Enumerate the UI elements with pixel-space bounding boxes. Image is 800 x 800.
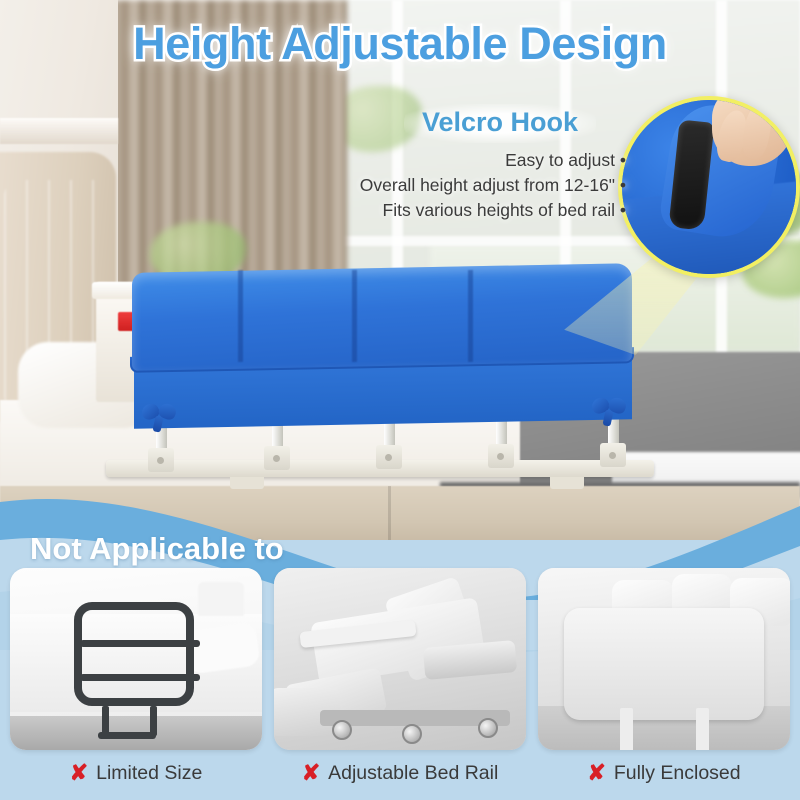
feature-bullet: Overall height adjust from 12-16" • <box>206 173 626 198</box>
lamp <box>198 582 244 616</box>
caster-wheel <box>402 724 422 744</box>
feature-bullet: Fits various heights of bed rail • <box>206 198 626 223</box>
rail-leg-bar <box>98 732 156 739</box>
rail-ribbon-tie <box>142 404 176 426</box>
not-applicable-heading: Not Applicable to <box>30 531 284 567</box>
page-title: Height Adjustable Design <box>0 18 800 70</box>
caster-wheel <box>478 718 498 738</box>
panel-strap <box>696 708 709 750</box>
card-fully-enclosed[interactable] <box>538 568 790 750</box>
rail-pad-seam <box>468 270 473 362</box>
rail-foot-bracket <box>148 448 174 472</box>
wall-molding <box>0 118 118 144</box>
card-caption-row: ✘ Limited Size ✘ Adjustable Bed Rail ✘ F… <box>10 756 790 790</box>
caption-label: Fully Enclosed <box>614 762 741 785</box>
caster-wheel <box>332 720 352 740</box>
rail-foot-bracket <box>488 444 514 468</box>
rail-ribbon-tie <box>592 398 626 420</box>
small-rail-graphic <box>74 602 194 706</box>
product-poster: Height Adjustable Design Velcro Hook Eas… <box>0 0 800 800</box>
card-adjustable-bed-rail[interactable] <box>274 568 526 750</box>
caption-label: Adjustable Bed Rail <box>328 762 498 785</box>
caption-limited-size: ✘ Limited Size <box>10 756 262 790</box>
rail-foot-bracket <box>600 443 626 467</box>
caption-fully-enclosed: ✘ Fully Enclosed <box>538 756 790 790</box>
rail-foot-bracket <box>264 446 290 470</box>
velcro-heading: Velcro Hook <box>404 104 596 143</box>
enclosed-panel-rail <box>564 608 764 720</box>
rail-pad-seam <box>238 270 243 362</box>
caption-adjustable-bed-rail: ✘ Adjustable Bed Rail <box>274 756 526 790</box>
x-mark-icon: ✘ <box>302 762 320 784</box>
feature-bullet: Easy to adjust • <box>206 148 626 173</box>
feature-bullet-list: Easy to adjust • Overall height adjust f… <box>206 148 626 223</box>
x-mark-icon: ✘ <box>70 762 88 784</box>
x-mark-icon: ✘ <box>587 762 605 784</box>
rail-bar <box>80 640 200 647</box>
rail-pad-upper <box>132 263 632 371</box>
product-bed-rail <box>120 268 640 498</box>
not-applicable-card-list <box>10 568 790 750</box>
velcro-closeup-inset <box>618 96 800 278</box>
panel-strap <box>620 708 633 750</box>
card-limited-size[interactable] <box>10 568 262 750</box>
rail-pad-seam <box>352 270 357 362</box>
rail-foot-bracket <box>376 445 402 469</box>
rail-bar <box>80 674 200 681</box>
caption-label: Limited Size <box>96 762 202 785</box>
